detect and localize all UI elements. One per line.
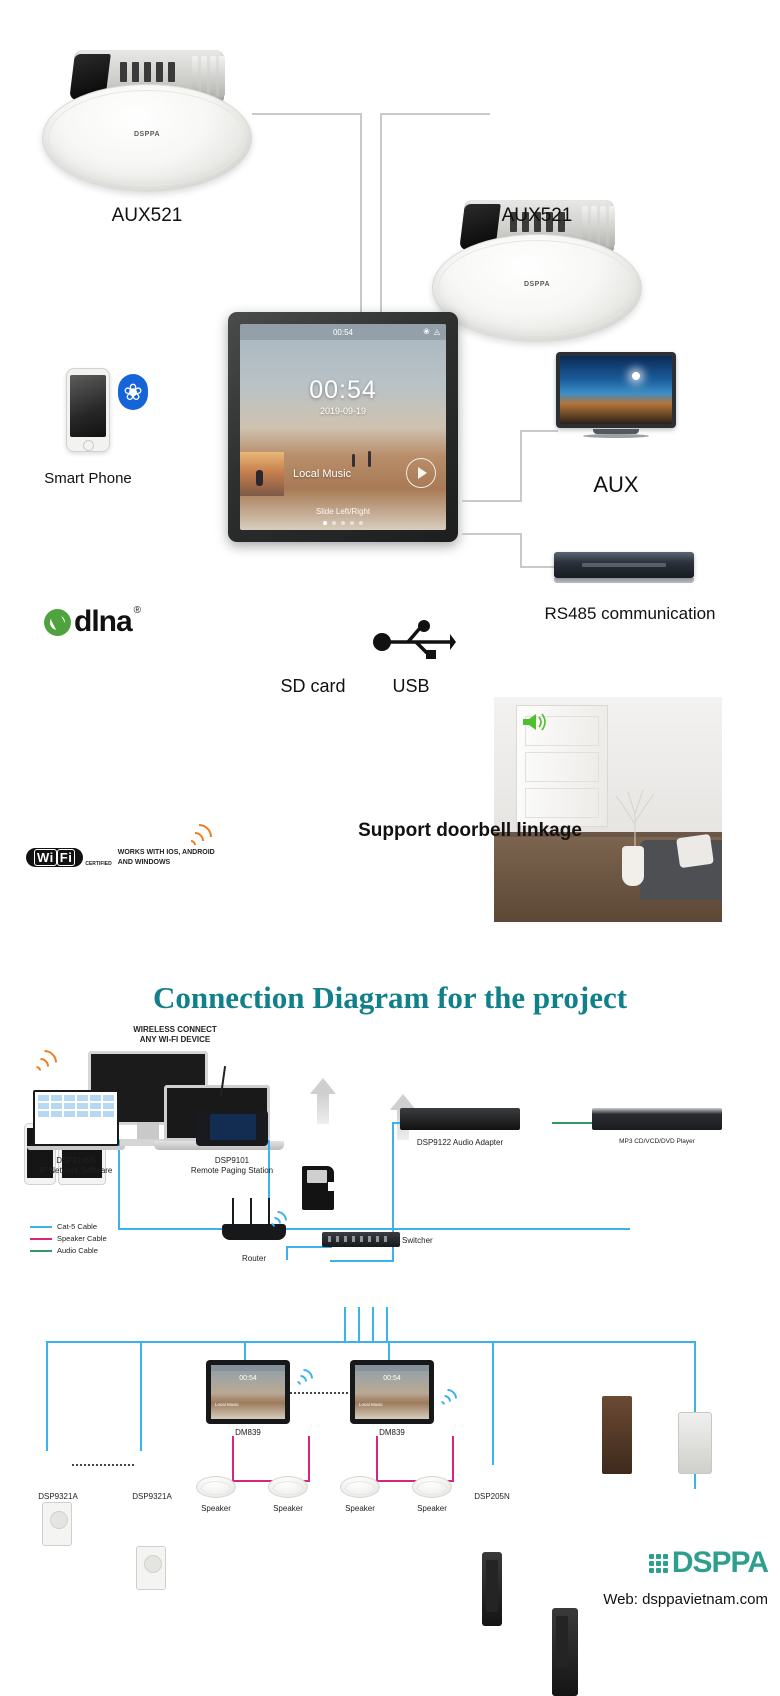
dsppa-wordmark: DSPPA <box>672 1546 768 1580</box>
wire-down-2 <box>140 1341 142 1451</box>
wooden-speaker <box>602 1396 632 1474</box>
wire-to-rs485-b <box>520 533 522 568</box>
ceiling-speaker-right-label: AUX521 <box>432 205 642 227</box>
dm839-left-device: 00:54 Local Music <box>206 1360 290 1424</box>
dsp9101-label: DSP9101 Remote Paging Station <box>172 1156 292 1176</box>
wire-speaker-cable-1 <box>232 1436 234 1482</box>
wire-to-tv-c <box>520 430 558 432</box>
speaker-brand-logo: DSPPA <box>134 131 160 138</box>
statusbar-icons: ❀ ◬ <box>423 327 440 336</box>
wire-to-tv-b <box>520 430 522 502</box>
dsp9100s-label: DSP9100S IP Network Software <box>20 1156 132 1176</box>
wire-out-4 <box>386 1307 388 1343</box>
wire-down-5 <box>492 1341 494 1465</box>
smartphone-device <box>66 368 110 452</box>
panel-clock: 00:54 <box>240 376 446 405</box>
wifi-signal-icon <box>268 1210 290 1230</box>
speaker-3 <box>340 1476 380 1498</box>
wire-to-rs485-c <box>520 566 556 568</box>
legend-item-audio: Audio Cable <box>30 1246 107 1255</box>
page-dots[interactable] <box>240 521 446 525</box>
dm839-right-screen: 00:54 Local Music <box>355 1365 429 1419</box>
usb-glyph <box>372 620 456 660</box>
wifi-certified-badge: WiFi CERTIFIED WORKS WITH IOS, ANDROID A… <box>26 848 215 867</box>
wire-main-bus <box>118 1228 630 1230</box>
doorbell-linkage-photo <box>494 697 722 922</box>
white-speaker <box>678 1412 712 1474</box>
legend-audio-label: Audio Cable <box>57 1246 98 1255</box>
panel-date: 2019-09-19 <box>240 406 446 416</box>
panel-statusbar: 00:54 ❀ ◬ <box>240 324 446 340</box>
panel-screen[interactable]: 00:54 ❀ ◬ 00:54 2019-09-19 Local Music S… <box>240 324 446 530</box>
wire-to-rs485-a <box>462 533 522 535</box>
rs485-body <box>554 552 694 578</box>
dm839-right-device: 00:54 Local Music <box>350 1360 434 1424</box>
speaker-4-label: Speaker <box>392 1504 472 1514</box>
wire-speaker-cable-4 <box>376 1436 378 1482</box>
wire-out-2 <box>358 1307 360 1343</box>
dsp9122-label: DSP9122 Audio Adapter <box>400 1138 520 1148</box>
tv-device <box>556 352 676 438</box>
now-playing-title: Local Music <box>293 468 351 480</box>
dlna-wordmark: dlna <box>74 605 132 639</box>
dm839-right-time: 00:54 <box>355 1375 429 1382</box>
speaker-3-label: Speaker <box>320 1504 400 1514</box>
wifi-badge-wi: Wi <box>34 849 57 866</box>
dm839-left-screen: 00:54 Local Music <box>211 1365 285 1419</box>
wireless-headline-line2: ANY WI-FI DEVICE <box>110 1035 240 1045</box>
wire-speaker-left-down <box>360 113 362 313</box>
speaker-1 <box>196 1476 236 1498</box>
ceiling-speaker-left: DSPPA <box>42 50 252 200</box>
smartphone-label: Smart Phone <box>18 470 158 487</box>
wire-dsp9122-v <box>392 1122 394 1230</box>
speaker-cone: DSPPA <box>42 84 252 192</box>
wire-to-tv-a <box>462 500 522 502</box>
legend-item-cat5: Cat-5 Cable <box>30 1222 107 1231</box>
legend-speaker-label: Speaker Cable <box>57 1234 107 1243</box>
dm839-left-time: 00:54 <box>211 1375 285 1382</box>
statusbar-time: 00:54 <box>333 328 353 337</box>
dsp9122-device <box>400 1108 520 1130</box>
dm839-left-music: Local Music <box>215 1402 239 1407</box>
dsp9321a-left-label: DSP9321A <box>8 1492 108 1502</box>
wire-lower-bus <box>46 1341 696 1343</box>
wifi-badge-certified: CERTIFIED <box>85 861 111 867</box>
wire-out-1 <box>344 1307 346 1343</box>
wifi-badge-fi: Fi <box>57 849 76 866</box>
usb-icon <box>372 620 456 665</box>
wireless-signal-icon <box>186 822 216 850</box>
legend-cat5-label: Cat-5 Cable <box>57 1222 97 1231</box>
website-url: Web: dsppavietnam.com <box>603 1591 768 1608</box>
wifi-signal-icon <box>438 1388 460 1408</box>
microphone-icon <box>220 1066 226 1096</box>
dsp9101-device <box>196 1092 268 1154</box>
album-thumbnail <box>240 452 284 496</box>
dsp9101-line1: DSP9101 <box>172 1156 292 1166</box>
rs485-device <box>554 552 694 583</box>
legend-item-speaker: Speaker Cable <box>30 1234 107 1243</box>
wire-dsp9100s <box>118 1140 120 1230</box>
works-with-line2: AND WINDOWS <box>118 858 215 867</box>
aux-label: AUX <box>556 472 676 498</box>
product-infographic-page: DSPPA AUX521 DSPPA AUX521 00:54 ❀ ◬ <box>0 0 780 1632</box>
doorbell-icon <box>520 711 548 733</box>
bluetooth-icon: ❀ <box>423 327 430 336</box>
column-speaker-1 <box>552 1608 578 1696</box>
dm839-left-label: DM839 <box>196 1428 300 1438</box>
home-button-icon <box>83 440 94 451</box>
bluetooth-icon: ❀ <box>118 374 148 410</box>
wire-down-1 <box>46 1341 48 1451</box>
wire-out-3 <box>372 1307 374 1343</box>
doorbell-caption: Support doorbell linkage <box>320 820 620 842</box>
wireless-headline-line1: WIRELESS CONNECT <box>110 1025 240 1035</box>
wireless-headline: WIRELESS CONNECT ANY WI-FI DEVICE <box>110 1025 240 1045</box>
speaker-brand-logo: DSPPA <box>524 281 550 288</box>
rs485-label: RS485 communication <box>480 604 780 624</box>
wire-speaker-cable-3 <box>308 1436 310 1482</box>
wire-switch-in <box>330 1260 394 1262</box>
tv-screen-image <box>560 356 672 424</box>
dsp9100s-device <box>33 1090 119 1152</box>
wire-speaker-right <box>380 113 490 115</box>
dm839-right-music: Local Music <box>359 1402 383 1407</box>
switcher-label: Switcher <box>402 1236 462 1246</box>
works-with-line1: WORKS WITH IOS, ANDROID <box>118 848 215 857</box>
cable-legend: Cat-5 Cable Speaker Cable Audio Cable <box>30 1222 107 1258</box>
dsp205n-device <box>482 1552 502 1626</box>
wire-speaker-cable-6 <box>452 1436 454 1482</box>
dsp9321a-right-device <box>136 1546 166 1590</box>
dsppa-logo: DSPPA <box>649 1546 768 1580</box>
works-with-text: WORKS WITH IOS, ANDROID AND WINDOWS <box>118 848 215 866</box>
mp3-player-device <box>592 1108 722 1130</box>
tv-bezel <box>556 352 676 428</box>
connection-diagram-title: Connection Diagram for the project <box>0 980 780 1016</box>
switcher-device <box>322 1232 400 1247</box>
speaker-1-label: Speaker <box>176 1504 256 1514</box>
software-ui-grid <box>38 1095 114 1117</box>
play-icon[interactable] <box>406 458 436 488</box>
ceiling-speaker-left-label: AUX521 <box>42 205 252 227</box>
dsp205n-label: DSP205N <box>452 1492 532 1502</box>
speaker-2-label: Speaker <box>248 1504 328 1514</box>
wall-panel-device[interactable]: 00:54 ❀ ◬ 00:54 2019-09-19 Local Music S… <box>228 312 458 542</box>
wifi-signal-icon <box>294 1368 316 1388</box>
logo-dots-icon <box>649 1554 668 1573</box>
router-label: Router <box>216 1254 292 1264</box>
speaker-cone: DSPPA <box>432 234 642 342</box>
slide-hint: Slide Left/Right <box>240 507 446 516</box>
wire-speaker-left <box>252 113 362 115</box>
dlna-mark-icon <box>44 609 71 636</box>
mp3-player-label: MP3 CD/VCD/DVD Player <box>588 1138 726 1146</box>
dotted-link-panels <box>282 1392 352 1394</box>
dsp9321a-right-label: DSP9321A <box>102 1492 202 1502</box>
dlna-trademark: ® <box>134 605 141 616</box>
dsp9101-line2: Remote Paging Station <box>172 1166 292 1176</box>
speaker-4 <box>412 1476 452 1498</box>
panel-now-playing-bar[interactable]: Local Music <box>240 452 446 496</box>
wifi-badge-pill: WiFi <box>26 848 83 867</box>
dlna-logo: dlna ® <box>44 605 141 639</box>
usb-label: USB <box>356 676 466 697</box>
speaker-2 <box>268 1476 308 1498</box>
dsp9321a-left-device <box>42 1502 72 1546</box>
dm839-right-label: DM839 <box>340 1428 444 1438</box>
phone-screen <box>70 375 106 437</box>
dsp9100s-line2: IP Network Software <box>20 1166 132 1176</box>
dotted-link-wallboxes <box>72 1464 134 1466</box>
dsp9100s-line1: DSP9100S <box>20 1156 132 1166</box>
wire-speaker-right-down <box>380 113 382 313</box>
wifi-icon: ◬ <box>434 327 440 336</box>
